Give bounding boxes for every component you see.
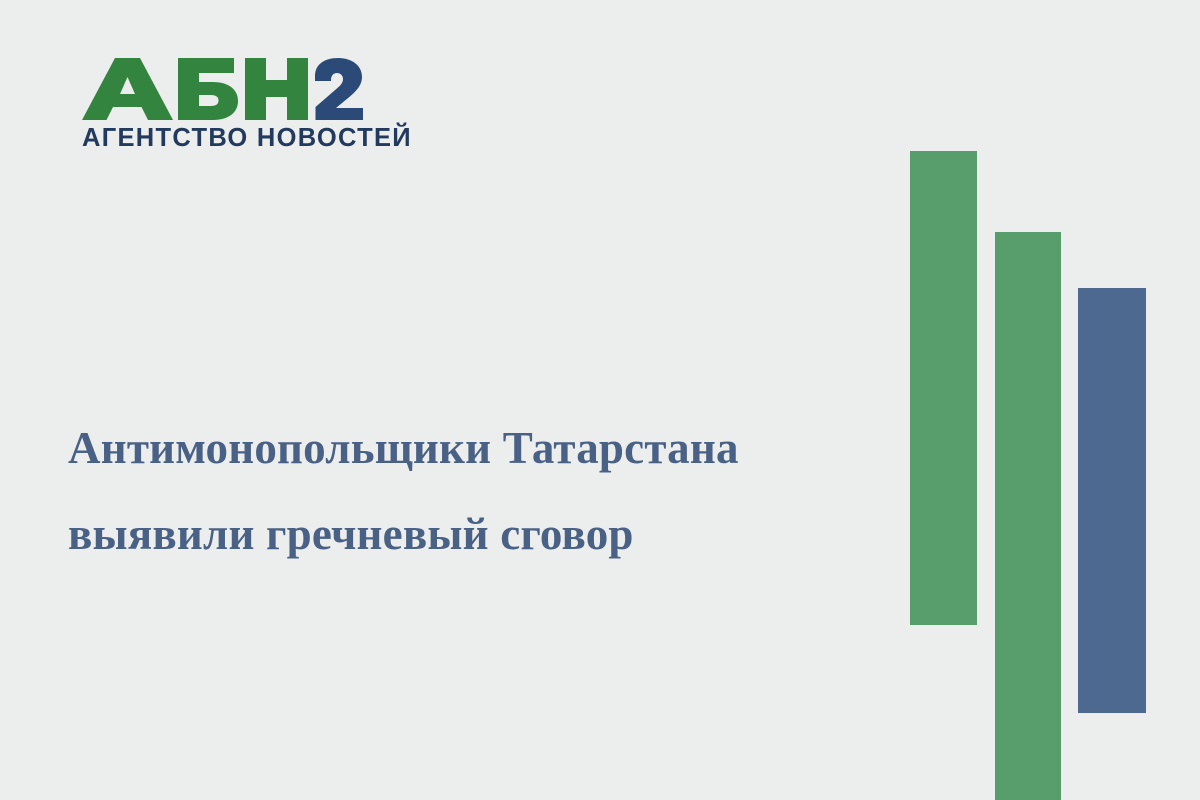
news-card-canvas: АГЕНТСТВО НОВОСТЕЙ Антимонопольщики Тата… (0, 0, 1200, 800)
decorative-bar-2 (995, 232, 1061, 800)
logo-tagline: АГЕНТСТВО НОВОСТЕЙ (82, 126, 372, 152)
headline-line-1: Антимонопольщики Татарстана (68, 405, 868, 491)
decorative-bar-1 (910, 151, 977, 625)
logo-wordmark-icon (82, 58, 364, 120)
decorative-bar-3 (1078, 288, 1146, 713)
headline: Антимонопольщики Татарстана выявили греч… (68, 405, 868, 577)
headline-line-2: выявили гречневый сговор (68, 491, 868, 577)
abn24-logo[interactable]: АГЕНТСТВО НОВОСТЕЙ (82, 58, 372, 158)
